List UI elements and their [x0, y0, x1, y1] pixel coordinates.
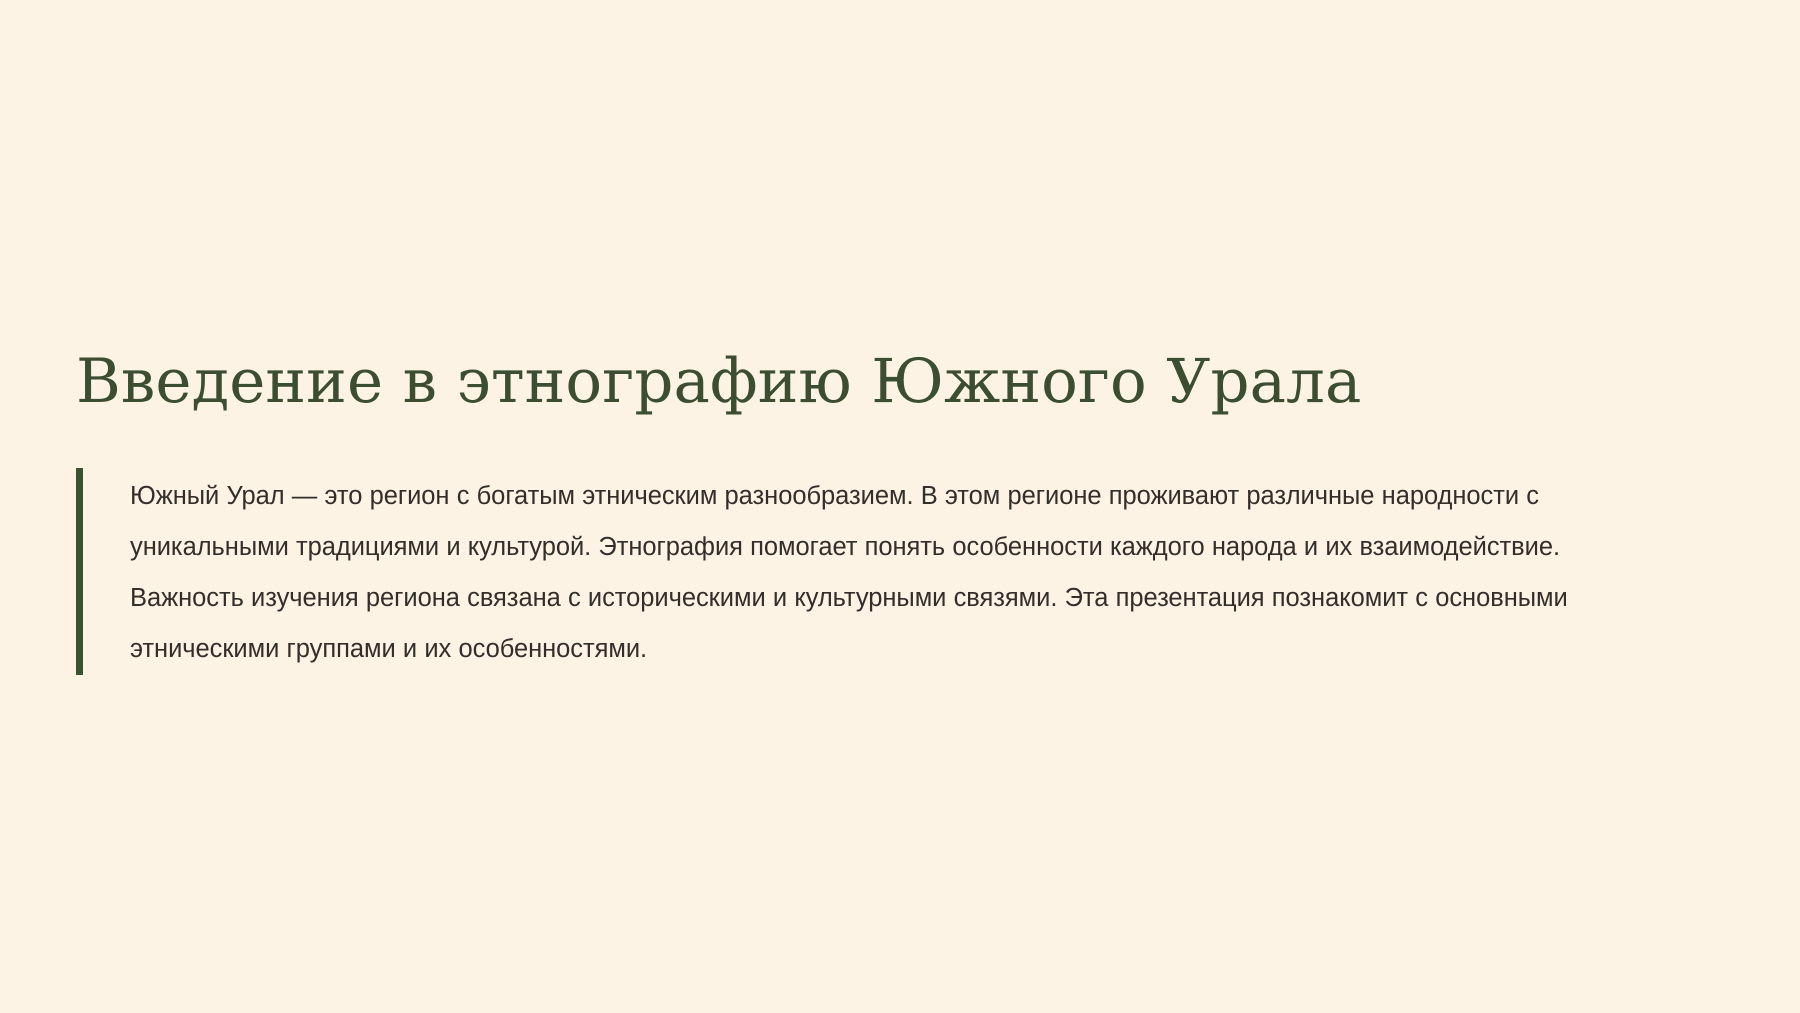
- slide-content-area: Введение в этнографию Южного Урала Южный…: [76, 0, 1726, 1013]
- page-title: Введение в этнографию Южного Урала: [76, 345, 1676, 419]
- body-paragraph: Южный Урал — это регион с богатым этниче…: [83, 468, 1661, 675]
- accent-bar: [76, 468, 83, 675]
- presentation-slide: Введение в этнографию Южного Урала Южный…: [0, 0, 1800, 1013]
- body-callout-block: Южный Урал — это регион с богатым этниче…: [76, 468, 1661, 675]
